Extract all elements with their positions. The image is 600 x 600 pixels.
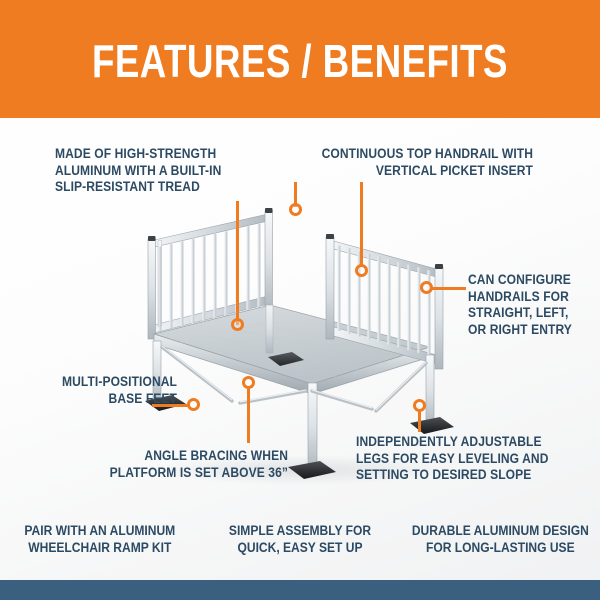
callout-handrail-marker-right [355, 264, 368, 277]
callout-adjustable-legs-leader-line [418, 410, 421, 432]
footer-item-2: SIMPLE ASSEMBLY FOR QUICK, EASY SET UP [200, 518, 400, 580]
callout-angle-bracing-leader-line [247, 387, 250, 443]
page-title: FEATURES / BENEFITS [92, 38, 508, 84]
callout-configure-leader-line [432, 287, 466, 290]
callout-adjustable-legs-label: INDEPENDENTLY ADJUSTABLE LEGS FOR EASY L… [356, 434, 568, 484]
footer-item-1: PAIR WITH AN ALUMINUM WHEELCHAIR RAMP KI… [0, 518, 200, 580]
callout-base-feet-label: MULTI-POSITIONAL BASE FEET [40, 374, 177, 407]
callout-angle-bracing-label: ANGLE BRACING WHEN PLATFORM IS SET ABOVE… [94, 448, 288, 481]
bottom-accent-bar [0, 580, 600, 600]
callout-configure-label: CAN CONFIGURE HANDRAILS FOR STRAIGHT, LE… [468, 272, 585, 338]
callout-adjustable-legs-marker [413, 399, 426, 412]
callout-base-feet-marker [187, 398, 200, 411]
footer-item-2-text: SIMPLE ASSEMBLY FOR QUICK, EASY SET UP [229, 522, 371, 556]
footer-benefits-row: PAIR WITH AN ALUMINUM WHEELCHAIR RAMP KI… [0, 518, 600, 580]
callout-handrail-marker-left [289, 203, 302, 216]
callout-angle-bracing-marker [242, 376, 255, 389]
footer-item-3-text: DURABLE ALUMINUM DESIGN FOR LONG-LASTING… [412, 522, 589, 556]
callout-tread-label: MADE OF HIGH-STRENGTH ALUMINUM WITH A BU… [55, 146, 262, 196]
header-band: FEATURES / BENEFITS [0, 0, 600, 118]
callout-handrail-leader-line-right [360, 182, 363, 267]
callout-tread-marker [231, 318, 244, 331]
callout-base-feet-leader-line [152, 404, 190, 407]
callout-handrail-label: CONTINUOUS TOP HANDRAIL WITH VERTICAL PI… [308, 146, 533, 179]
footer-item-1-text: PAIR WITH AN ALUMINUM WHEELCHAIR RAMP KI… [25, 522, 176, 556]
features-benefits-infographic: FEATURES / BENEFITS [0, 0, 600, 600]
footer-item-3: DURABLE ALUMINUM DESIGN FOR LONG-LASTING… [400, 518, 600, 580]
callout-tread-leader-line [236, 201, 239, 325]
callout-configure-marker [420, 281, 433, 294]
